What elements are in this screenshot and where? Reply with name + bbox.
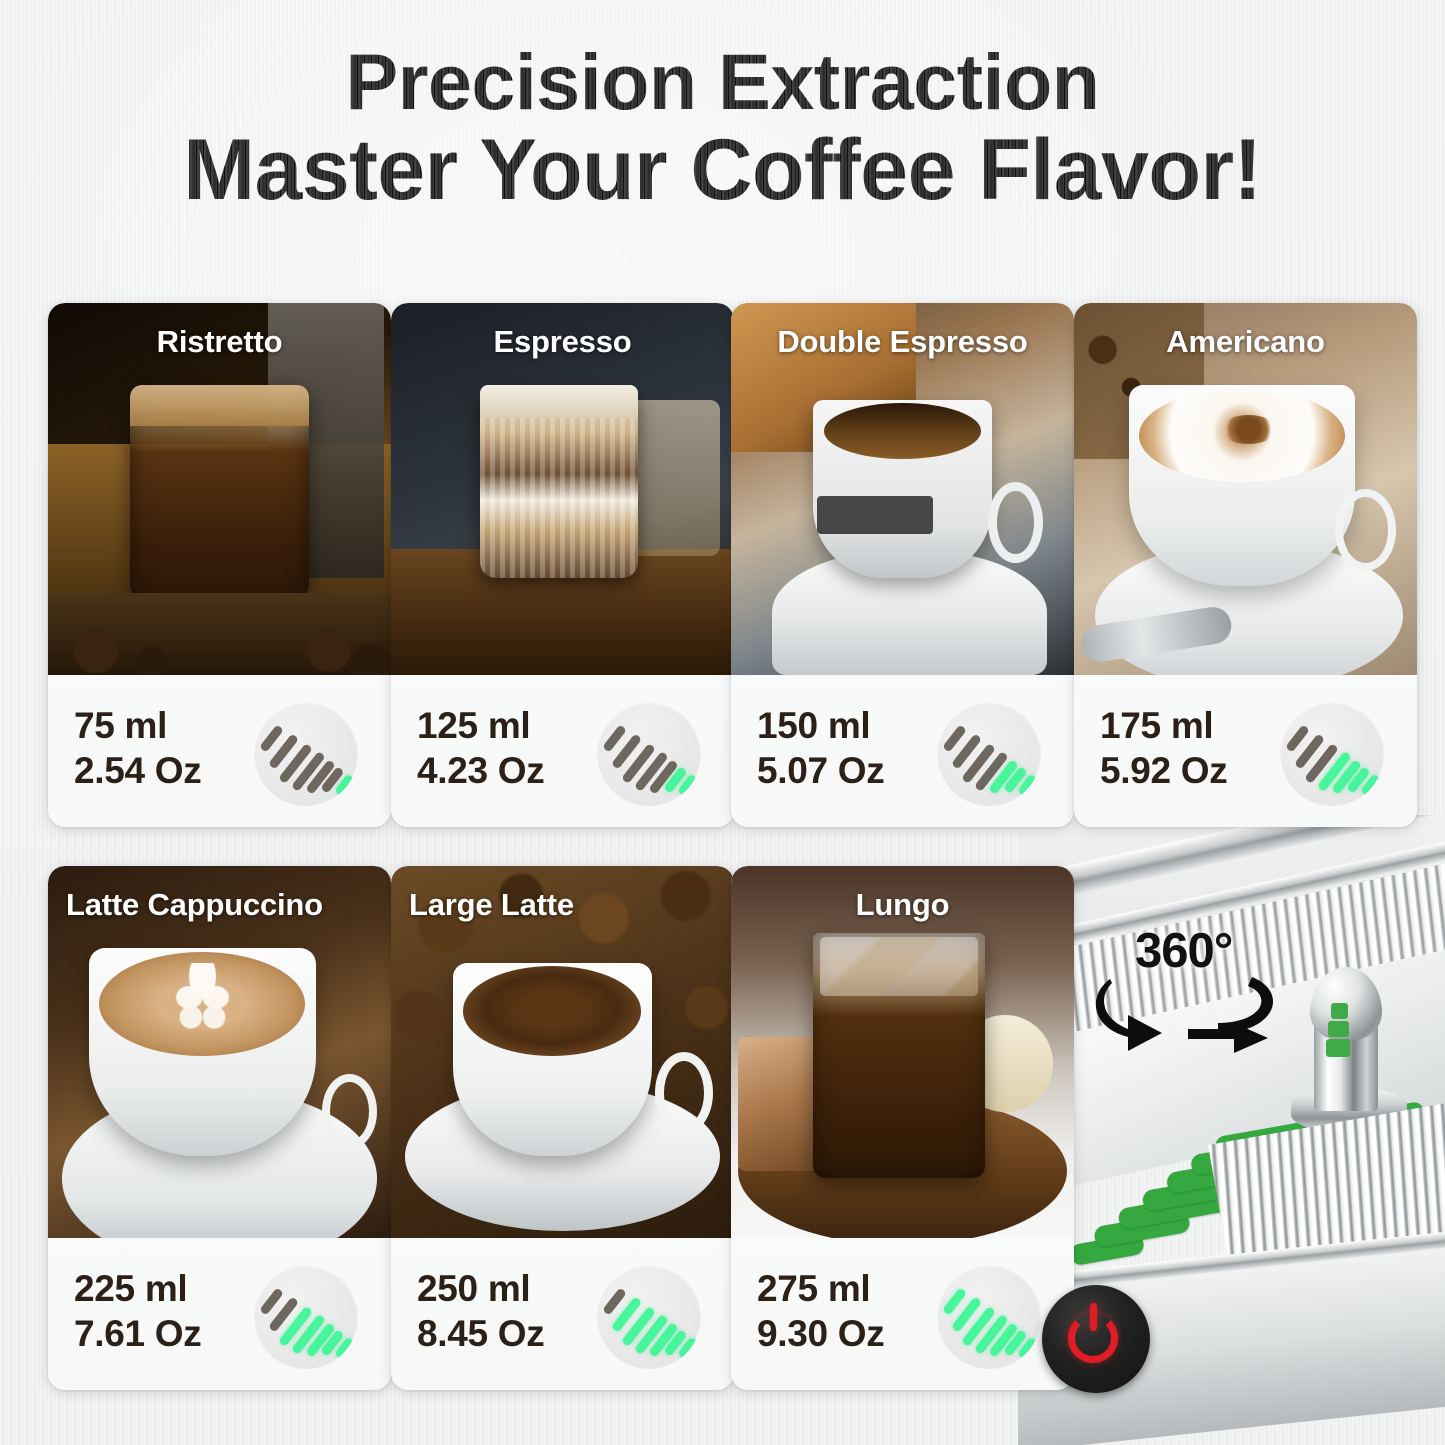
drink-photo: Americano [1074,303,1417,675]
knob-indicator-1 [1331,1003,1348,1019]
drink-info: 150 ml5.07 Oz [731,675,1074,827]
drink-photo: Latte Cappuccino [48,866,391,1238]
power-button[interactable] [1042,1285,1150,1393]
drink-title: Espresso [391,324,734,360]
drink-info: 175 ml5.92 Oz [1074,675,1417,827]
drink-card-americano[interactable]: Americano175 ml5.92 Oz [1074,303,1417,827]
headline: Precision Extraction Master Your Coffee … [0,42,1445,214]
drink-title: Large Latte [391,887,734,923]
drink-photo: Large Latte [391,866,734,1238]
drink-photo: Lungo [731,866,1074,1238]
drink-card-latte-cappuccino[interactable]: Latte Cappuccino225 ml7.61 Oz [48,866,391,1390]
headline-line-1: Precision Extraction [0,42,1445,123]
drink-info: 225 ml7.61 Oz [48,1238,391,1390]
strength-level-indicator [597,1265,701,1369]
drink-info: 250 ml8.45 Oz [391,1238,734,1390]
drink-card-ristretto[interactable]: Ristretto75 ml2.54 Oz [48,303,391,827]
headline-line-2: Master Your Coffee Flavor! [0,127,1445,215]
power-icon-stem [1090,1303,1097,1331]
drink-title: Latte Cappuccino [48,887,391,923]
drink-title: Double Espresso [731,324,1074,360]
knob-indicator-3 [1326,1039,1350,1057]
strength-level-indicator [254,702,358,806]
drink-title: Lungo [731,887,1074,923]
drink-card-large-latte[interactable]: Large Latte250 ml8.45 Oz [391,866,734,1390]
drink-info: 125 ml4.23 Oz [391,675,734,827]
drink-photo: Espresso [391,303,734,675]
strength-level-indicator [937,702,1041,806]
drink-card-espresso[interactable]: Espresso125 ml4.23 Oz [391,303,734,827]
drink-photo: Double Espresso [731,303,1074,675]
strength-level-indicator [597,702,701,806]
drink-photo: Ristretto [48,303,391,675]
drink-card-double-espresso[interactable]: Double Espresso150 ml5.07 Oz [731,303,1074,827]
drink-info: 275 ml9.30 Oz [731,1238,1074,1390]
rotation-degree-label: 360° [1135,923,1232,979]
knob-indicator-2 [1328,1021,1349,1037]
strength-level-indicator [937,1265,1041,1369]
drink-title: Ristretto [48,324,391,360]
strength-level-indicator [1280,702,1384,806]
strength-level-indicator [254,1265,358,1369]
drink-card-lungo[interactable]: Lungo275 ml9.30 Oz [731,866,1074,1390]
drink-title: Americano [1074,324,1417,360]
drink-info: 75 ml2.54 Oz [48,675,391,827]
